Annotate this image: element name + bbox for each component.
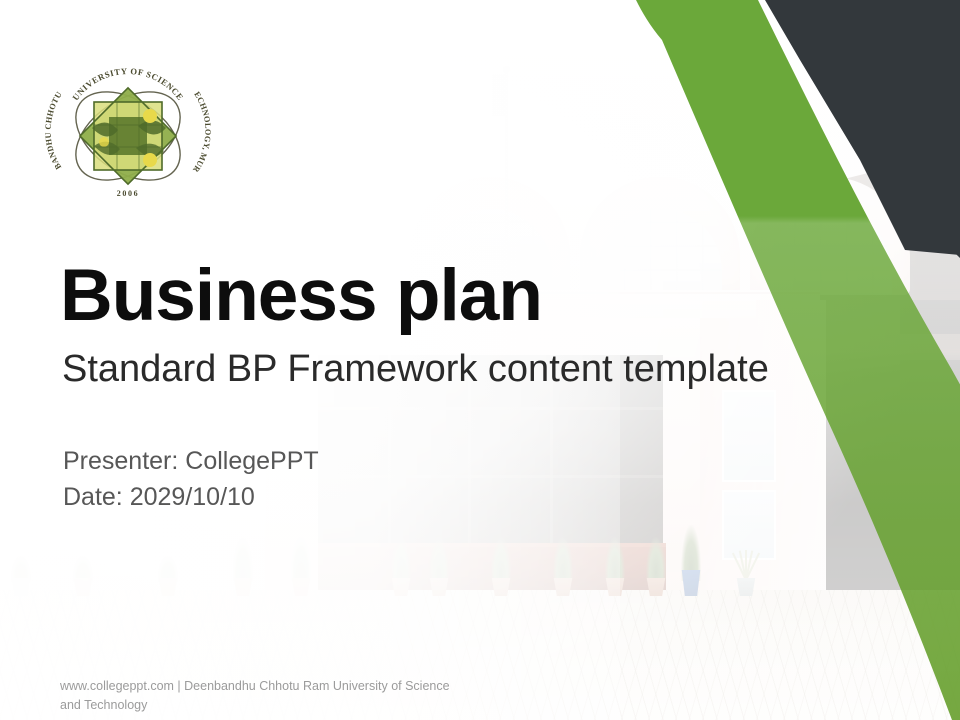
- seal-emblem: [80, 88, 176, 184]
- seal-left-text: DEENBANDHU CHHOTU RAM: [44, 52, 64, 171]
- title-slide: UNIVERSITY OF SCIENCE DEENBANDHU CHHOTU …: [0, 0, 960, 720]
- presentation-meta: Presenter: CollegePPT Date: 2029/10/10: [63, 443, 319, 515]
- seal-year-text: 2006: [117, 189, 139, 198]
- university-seal-logo: UNIVERSITY OF SCIENCE DEENBANDHU CHHOTU …: [44, 52, 212, 210]
- footer-line-2: and Technology: [60, 696, 490, 715]
- page-subtitle: Standard BP Framework content template: [62, 350, 769, 388]
- page-title: Business plan: [60, 259, 542, 332]
- footer-credit: www.collegeppt.com | Deenbandhu Chhotu R…: [60, 677, 490, 715]
- date-line: Date: 2029/10/10: [63, 479, 319, 515]
- presenter-line: Presenter: CollegePPT: [63, 443, 319, 479]
- footer-line-1: www.collegeppt.com | Deenbandhu Chhotu R…: [60, 677, 490, 696]
